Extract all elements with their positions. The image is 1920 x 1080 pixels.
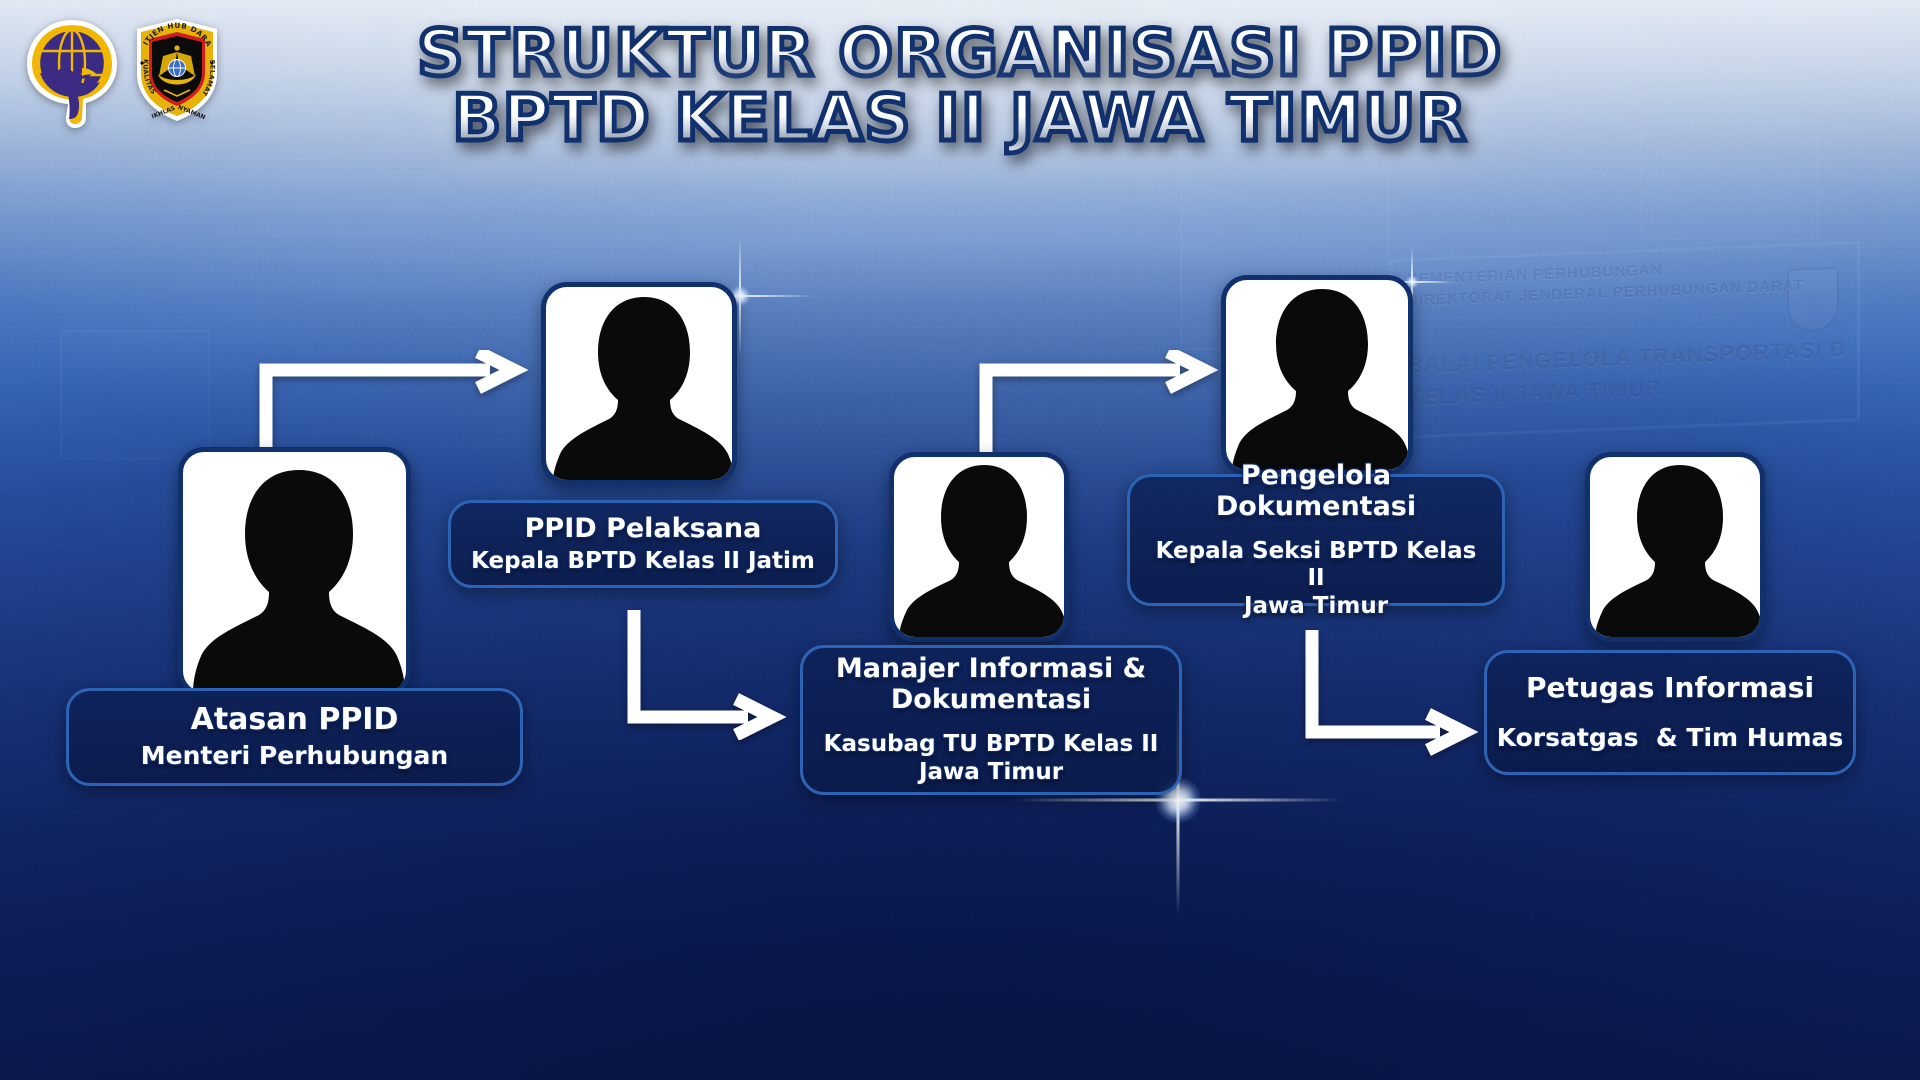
label-petugas-informasi[interactable]: Petugas Informasi Korsatgas & Tim Humas <box>1484 650 1856 775</box>
poster-canvas: KEMENTERIAN PERHUBUNGAN DIREKTORAT JENDE… <box>0 0 1920 1080</box>
role-atasan-ppid: Atasan PPID <box>191 703 399 738</box>
label-manajer-informasi[interactable]: Manajer Informasi & Dokumentasi Kasubag … <box>800 645 1182 795</box>
avatar-pengelola-dokumentasi[interactable] <box>1221 275 1413 475</box>
label-ppid-pelaksana[interactable]: PPID Pelaksana Kepala BPTD Kelas II Jati… <box>448 500 838 588</box>
avatar-petugas-informasi[interactable] <box>1585 452 1765 642</box>
logo-group: DITJEN HUB DARAT KUALITAS SELAMAT IKHLAS… <box>24 18 220 135</box>
label-atasan-ppid[interactable]: Atasan PPID Menteri Perhubungan <box>66 688 523 786</box>
role-pengelola-dokumentasi: Pengelola Dokumentasi <box>1146 460 1486 522</box>
label-pengelola-dokumentasi[interactable]: Pengelola Dokumentasi Kepala Seksi BPTD … <box>1127 474 1505 606</box>
role-ppid-pelaksana: PPID Pelaksana <box>525 513 762 544</box>
role-manajer-informasi-line-1: Manajer Informasi & <box>836 653 1146 684</box>
position-atasan-ppid: Menteri Perhubungan <box>141 741 448 771</box>
avatar-manajer-informasi[interactable] <box>889 452 1069 642</box>
avatar-ppid-pelaksana[interactable] <box>541 282 737 485</box>
position-ppid-pelaksana: Kepala BPTD Kelas II Jatim <box>471 548 815 576</box>
role-petugas-informasi: Petugas Informasi <box>1526 672 1814 704</box>
role-manajer-informasi-line-2: Dokumentasi <box>891 684 1091 715</box>
ditjen-hubdat-logo: DITJEN HUB DARAT KUALITAS SELAMAT IKHLAS… <box>134 18 220 127</box>
position-manajer-informasi-line-1: Kasubag TU BPTD Kelas II <box>824 731 1159 759</box>
avatar-atasan-ppid[interactable] <box>178 447 411 697</box>
position-petugas-informasi: Korsatgas & Tim Humas <box>1497 723 1844 753</box>
position-pengelola-dokumentasi-line-1: Kepala Seksi BPTD Kelas II <box>1146 538 1486 593</box>
position-pengelola-dokumentasi-line-2: Jawa Timur <box>1244 593 1388 621</box>
position-manajer-informasi-line-2: Jawa Timur <box>919 759 1063 787</box>
kementerian-perhubungan-logo <box>24 18 120 135</box>
